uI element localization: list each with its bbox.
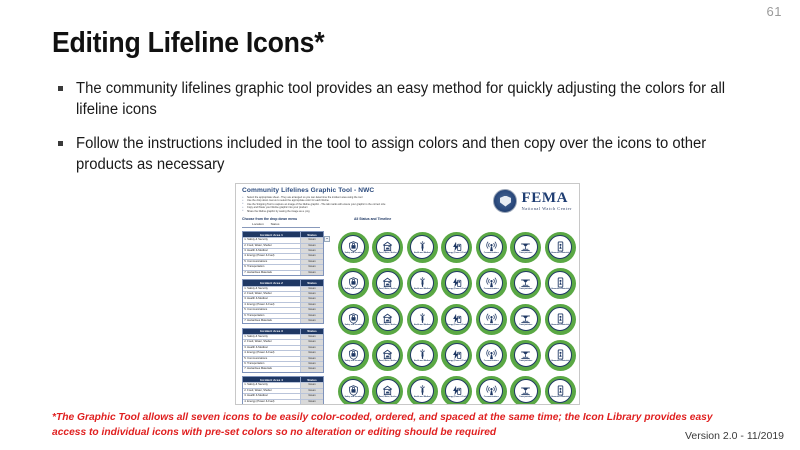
status-dropdown-cell[interactable]: Green [300, 303, 323, 307]
status-dropdown-cell[interactable]: Green [300, 297, 323, 301]
lifeline-icon-energy-power-fuel[interactable]: Energy (Power & Fuel) [441, 340, 472, 371]
bullet-text: Follow the instructions included in the … [76, 133, 738, 175]
page-number: 61 [767, 4, 782, 19]
lifeline-name-cell: 7. Hazardous Materials [243, 319, 300, 323]
lifeline-icon-transportation[interactable]: Transportation [510, 268, 541, 299]
lifeline-name-cell: 2. Food, Water, Shelter [243, 389, 300, 393]
lifeline-icon-inner: Energy (Power & Fuel) [445, 235, 469, 259]
food-water-shelter-icon [382, 241, 393, 252]
safety-and-security-icon [348, 277, 359, 288]
table-row: 1. Safety & SecurityGreen [243, 286, 323, 291]
lifeline-icon-inner: Transportation [514, 379, 538, 403]
status-dropdown-cell[interactable]: Green [300, 271, 323, 275]
lifeline-icon-food-water-shelter[interactable]: Food, Water, Shelter [372, 232, 403, 263]
health-and-medical-icon [417, 349, 428, 360]
table-row: 4. Energy (Power & Fuel)Green [243, 302, 323, 307]
list-item: Follow the instructions included in the … [58, 133, 758, 175]
lifeline-icon-inner: Communications [479, 271, 503, 295]
table-row: 4. Energy (Power & Fuel)Green [243, 253, 323, 258]
footnote-text: *The Graphic Tool allows all seven icons… [52, 411, 732, 440]
transportation-icon [520, 349, 531, 360]
lifeline-icon-communications[interactable]: Communications [476, 268, 507, 299]
table-header-incident-area: Incident Area 1 [243, 232, 300, 237]
health-and-medical-icon [417, 277, 428, 288]
lifeline-icon-inner: Food, Water, Shelter [376, 343, 400, 367]
lifeline-name-cell: 1. Safety & Security [243, 383, 300, 387]
lifeline-icon-inner: Health and Medical [410, 379, 434, 403]
lifeline-icon-label: Communications [481, 252, 501, 254]
safety-and-security-icon [348, 385, 359, 396]
lifeline-icon-label: Health and Medical [412, 252, 432, 254]
lifeline-icon-label: Hazardous Materials [550, 360, 570, 362]
table-row: 5. CommunicationsGreen [243, 356, 323, 361]
status-dropdown-cell[interactable]: Green [300, 383, 323, 387]
lifeline-name-cell: 1. Safety & Security [243, 238, 300, 242]
status-dropdown-cell[interactable]: Green [300, 260, 323, 264]
lifeline-icon-inner: Safety and Security [341, 235, 365, 259]
energy-power-fuel-icon [451, 313, 462, 324]
lifeline-icon-label: Communications [481, 288, 501, 290]
lifeline-icon-label: Safety and Security [343, 396, 363, 398]
communications-icon [486, 313, 497, 324]
table-row: 7. Hazardous MaterialsGreen [243, 366, 323, 371]
lifeline-icon-label: Communications [481, 396, 501, 398]
table-header-row: Incident Area 1Status [243, 232, 323, 237]
table-row: 7. Hazardous MaterialsGreen [243, 318, 323, 323]
tool-instructions-list: Select the appropriate sheet - They are … [242, 196, 472, 213]
lifeline-icon-transportation[interactable]: Transportation [510, 376, 541, 406]
food-water-shelter-icon [382, 313, 393, 324]
lifeline-icon-inner: Safety and Security [341, 343, 365, 367]
lifeline-icon-inner: Communications [479, 379, 503, 403]
safety-and-security-icon [348, 241, 359, 252]
communications-icon [486, 349, 497, 360]
dropdown-subcaption-right: Status [271, 222, 280, 226]
status-dropdown-cell[interactable]: Green [300, 362, 323, 366]
table-header-status: Status [300, 329, 323, 334]
safety-and-security-icon [348, 349, 359, 360]
lifeline-icon-inner: Safety and Security [341, 307, 365, 331]
lifeline-icon-label: Food, Water, Shelter [378, 288, 398, 290]
table-row: 2. Food, Water, ShelterGreen [243, 339, 323, 344]
lifeline-icon-hazardous-materials[interactable]: Hazardous Materials [545, 304, 576, 335]
status-dropdown-cell[interactable]: Green [300, 346, 323, 350]
table-header-row: Incident Area 3Status [243, 329, 323, 334]
lifeline-icon-label: Communications [481, 360, 501, 362]
status-dropdown-cell[interactable]: Green [300, 335, 323, 339]
lifeline-icon-transportation[interactable]: Transportation [510, 304, 541, 335]
lifeline-icon-energy-power-fuel[interactable]: Energy (Power & Fuel) [441, 232, 472, 263]
lifeline-icon-communications[interactable]: Communications [476, 376, 507, 406]
table-row: 5. CommunicationsGreen [243, 307, 323, 312]
status-dropdown-cell[interactable]: Green [300, 292, 323, 296]
table-row: 1. Safety & SecurityGreen [243, 382, 323, 387]
lifeline-icon-safety-and-security[interactable]: Safety and Security [338, 232, 369, 263]
energy-power-fuel-icon [451, 385, 462, 396]
lifeline-icon-label: Transportation [516, 360, 536, 362]
hazardous-materials-icon [555, 313, 566, 324]
table-header-status: Status [300, 280, 323, 285]
status-dropdown-cell[interactable]: Green [300, 308, 323, 312]
lifeline-icon-transportation[interactable]: Transportation [510, 340, 541, 371]
lifeline-name-cell: 7. Hazardous Materials [243, 271, 300, 275]
version-label: Version 2.0 - 11/2019 [685, 430, 784, 442]
lifeline-icon-label: Food, Water, Shelter [378, 252, 398, 254]
lifeline-icon-communications[interactable]: Communications [476, 304, 507, 335]
lifeline-icon-inner: Food, Water, Shelter [376, 379, 400, 403]
status-dropdown-cell[interactable]: Green [300, 244, 323, 248]
lifeline-icon-inner: Safety and Security [341, 379, 365, 403]
lifeline-name-cell: 3. Health & Medical [243, 249, 300, 253]
lifeline-name-cell: 5. Communications [243, 308, 300, 312]
lifeline-icon-inner: Food, Water, Shelter [376, 307, 400, 331]
table-header-row: Incident Area 4Status [243, 377, 323, 382]
status-dropdown-cell[interactable]: Green [300, 394, 323, 398]
fema-wordmark: FEMA National Watch Center [521, 191, 572, 211]
lifeline-icon-communications[interactable]: Communications [476, 340, 507, 371]
lifeline-icon-health-and-medical[interactable]: Health and Medical [407, 268, 438, 299]
lifeline-icon-label: Transportation [516, 252, 536, 254]
health-and-medical-icon [417, 385, 428, 396]
lifeline-name-cell: 5. Communications [243, 260, 300, 264]
lifeline-name-cell: 4. Energy (Power & Fuel) [243, 303, 300, 307]
lifeline-icon-inner: Hazardous Materials [548, 379, 572, 403]
divider [242, 227, 320, 228]
lifeline-icon-inner: Energy (Power & Fuel) [445, 307, 469, 331]
transportation-icon [520, 385, 531, 396]
lifeline-name-cell: 6. Transportation [243, 362, 300, 366]
lifeline-icon-safety-and-security[interactable]: Safety and Security [338, 340, 369, 371]
table-header-incident-area: Incident Area 3 [243, 329, 300, 334]
table-header-incident-area: Incident Area 4 [243, 377, 300, 382]
lifeline-icon-label: Safety and Security [343, 360, 363, 362]
chevron-down-icon[interactable] [324, 236, 330, 242]
food-water-shelter-icon [382, 277, 393, 288]
incident-area-table: Incident Area 3Status1. Safety & Securit… [242, 328, 324, 373]
grid-caption: All Status and Timeline [354, 217, 391, 221]
bullet-marker-icon [58, 86, 63, 91]
lifeline-icon-inner: Hazardous Materials [548, 343, 572, 367]
lifeline-icon-label: Safety and Security [343, 288, 363, 290]
hazardous-materials-icon [555, 385, 566, 396]
lifeline-name-cell: 7. Hazardous Materials [243, 367, 300, 371]
lifeline-icon-health-and-medical[interactable]: Health and Medical [407, 232, 438, 263]
lifeline-icon-label: Food, Water, Shelter [378, 396, 398, 398]
lifeline-icon-inner: Communications [479, 343, 503, 367]
status-dropdown-cell[interactable]: Green [300, 389, 323, 393]
bullet-list: The community lifelines graphic tool pro… [58, 78, 758, 188]
lifeline-icon-label: Transportation [516, 324, 536, 326]
dropdown-caption: Choose from the drop down menu [242, 217, 297, 221]
lifeline-icon-label: Hazardous Materials [550, 324, 570, 326]
embedded-tool-screenshot: Community Lifelines Graphic Tool - NWC S… [235, 183, 580, 405]
table-row: 3. Health & MedicalGreen [243, 345, 323, 350]
status-dropdown-cell[interactable]: Green [300, 314, 323, 318]
page-title: Editing Lifeline Icons* [52, 27, 324, 60]
status-dropdown-cell[interactable]: Green [300, 367, 323, 371]
incident-area-table: Incident Area 4Status1. Safety & Securit… [242, 376, 324, 405]
lifeline-icon-label: Energy (Power & Fuel) [447, 288, 467, 290]
lifeline-icon-inner: Communications [479, 235, 503, 259]
lifeline-icon-energy-power-fuel[interactable]: Energy (Power & Fuel) [441, 376, 472, 406]
lifeline-icon-hazardous-materials[interactable]: Hazardous Materials [545, 376, 576, 406]
table-row: 6. TransportationGreen [243, 264, 323, 269]
lifeline-icon-inner: Hazardous Materials [548, 235, 572, 259]
tool-title: Community Lifelines Graphic Tool - NWC [242, 187, 472, 194]
dropdown-subcaption-left: Location [252, 222, 264, 226]
incident-area-tables: Incident Area 1Status1. Safety & Securit… [242, 231, 324, 405]
table-row: 4. Energy (Power & Fuel)Green [243, 350, 323, 355]
lifeline-name-cell: 6. Transportation [243, 265, 300, 269]
table-row: 3. Health & MedicalGreen [243, 296, 323, 301]
lifeline-icon-health-and-medical[interactable]: Health and Medical [407, 340, 438, 371]
status-dropdown-cell[interactable]: Green [300, 400, 323, 404]
lifeline-icon-health-and-medical[interactable]: Health and Medical [407, 304, 438, 335]
transportation-icon [520, 313, 531, 324]
lifeline-icon-safety-and-security[interactable]: Safety and Security [338, 268, 369, 299]
lifeline-icon-label: Hazardous Materials [550, 252, 570, 254]
table-header-row: Incident Area 2Status [243, 280, 323, 285]
lifeline-icon-label: Energy (Power & Fuel) [447, 396, 467, 398]
lifeline-icon-label: Energy (Power & Fuel) [447, 252, 467, 254]
lifeline-name-cell: 1. Safety & Security [243, 287, 300, 291]
tool-instruction-item: Share the lifeline graphic by saving the… [242, 210, 472, 213]
lifeline-icon-food-water-shelter[interactable]: Food, Water, Shelter [372, 340, 403, 371]
lifeline-icon-food-water-shelter[interactable]: Food, Water, Shelter [372, 376, 403, 406]
lifeline-icon-label: Transportation [516, 288, 536, 290]
lifeline-name-cell: 4. Energy (Power & Fuel) [243, 254, 300, 258]
lifeline-icon-inner: Energy (Power & Fuel) [445, 379, 469, 403]
lifeline-icon-energy-power-fuel[interactable]: Energy (Power & Fuel) [441, 268, 472, 299]
lifeline-name-cell: 6. Transportation [243, 314, 300, 318]
lifeline-name-cell: 2. Food, Water, Shelter [243, 292, 300, 296]
status-dropdown-cell[interactable]: Green [300, 287, 323, 291]
table-header-incident-area: Incident Area 2 [243, 280, 300, 285]
lifeline-icon-hazardous-materials[interactable]: Hazardous Materials [545, 268, 576, 299]
lifeline-name-cell: 5. Communications [243, 357, 300, 361]
lifeline-icon-safety-and-security[interactable]: Safety and Security [338, 376, 369, 406]
communications-icon [486, 241, 497, 252]
health-and-medical-icon [417, 313, 428, 324]
lifeline-icon-label: Health and Medical [412, 288, 432, 290]
incident-area-table: Incident Area 1Status1. Safety & Securit… [242, 231, 324, 276]
lifeline-icon-food-water-shelter[interactable]: Food, Water, Shelter [372, 268, 403, 299]
lifeline-icon-inner: Transportation [514, 235, 538, 259]
status-dropdown-cell[interactable]: Green [300, 357, 323, 361]
table-row: 3. Health & MedicalGreen [243, 248, 323, 253]
bullet-marker-icon [58, 141, 63, 146]
slide-canvas: 61 Editing Lifeline Icons* The community… [0, 0, 800, 450]
lifeline-name-cell: 3. Health & Medical [243, 297, 300, 301]
list-item: The community lifelines graphic tool pro… [58, 78, 758, 120]
lifeline-icon-inner: Safety and Security [341, 271, 365, 295]
fema-name: FEMA [521, 191, 572, 206]
lifeline-icon-hazardous-materials[interactable]: Hazardous Materials [545, 340, 576, 371]
lifeline-icon-label: Hazardous Materials [550, 396, 570, 398]
lifeline-icon-inner: Health and Medical [410, 235, 434, 259]
lifeline-icon-communications[interactable]: Communications [476, 232, 507, 263]
food-water-shelter-icon [382, 349, 393, 360]
lifeline-icon-inner: Communications [479, 307, 503, 331]
incident-area-table: Incident Area 2Status1. Safety & Securit… [242, 279, 324, 324]
health-and-medical-icon [417, 241, 428, 252]
lifeline-icon-label: Health and Medical [412, 360, 432, 362]
status-dropdown-cell[interactable]: Green [300, 340, 323, 344]
table-row: 2. Food, Water, ShelterGreen [243, 243, 323, 248]
lifeline-icon-label: Health and Medical [412, 324, 432, 326]
lifeline-icon-inner: Food, Water, Shelter [376, 235, 400, 259]
lifeline-name-cell: 2. Food, Water, Shelter [243, 244, 300, 248]
lifeline-name-cell: 2. Food, Water, Shelter [243, 340, 300, 344]
transportation-icon [520, 277, 531, 288]
lifeline-icon-label: Energy (Power & Fuel) [447, 360, 467, 362]
table-row: 6. TransportationGreen [243, 313, 323, 318]
lifeline-name-cell: 4. Energy (Power & Fuel) [243, 400, 300, 404]
table-row: 5. CommunicationsGreen [243, 259, 323, 264]
lifeline-icon-inner: Transportation [514, 271, 538, 295]
lifeline-icon-inner: Transportation [514, 343, 538, 367]
dropdown-subcaption: Location Status [252, 222, 279, 226]
transportation-icon [520, 241, 531, 252]
table-row: 4. Energy (Power & Fuel)Green [243, 399, 323, 404]
safety-and-security-icon [348, 313, 359, 324]
lifeline-icon-inner: Hazardous Materials [548, 271, 572, 295]
table-row: 6. TransportationGreen [243, 361, 323, 366]
lifeline-icon-food-water-shelter[interactable]: Food, Water, Shelter [372, 304, 403, 335]
lifeline-icon-inner: Energy (Power & Fuel) [445, 271, 469, 295]
lifeline-name-cell: 3. Health & Medical [243, 394, 300, 398]
status-dropdown-cell[interactable]: Green [300, 265, 323, 269]
communications-icon [486, 277, 497, 288]
lifeline-icon-safety-and-security[interactable]: Safety and Security [338, 304, 369, 335]
lifeline-icon-grid: Safety and SecurityFood, Water, ShelterH… [336, 229, 578, 405]
table-header-status: Status [300, 232, 323, 237]
energy-power-fuel-icon [451, 277, 462, 288]
lifeline-icon-inner: Health and Medical [410, 307, 434, 331]
lifeline-icon-inner: Transportation [514, 307, 538, 331]
lifeline-icon-label: Communications [481, 324, 501, 326]
lifeline-icon-inner: Energy (Power & Fuel) [445, 343, 469, 367]
status-dropdown-cell[interactable]: Green [300, 238, 323, 242]
lifeline-icon-label: Transportation [516, 396, 536, 398]
lifeline-icon-label: Food, Water, Shelter [378, 360, 398, 362]
status-dropdown-cell[interactable]: Green [300, 254, 323, 258]
table-row: 7. Hazardous MaterialsGreen [243, 270, 323, 275]
table-row: 1. Safety & SecurityGreen [243, 334, 323, 339]
dhs-seal-icon [493, 189, 517, 213]
communications-icon [486, 385, 497, 396]
lifeline-icon-transportation[interactable]: Transportation [510, 232, 541, 263]
lifeline-icon-hazardous-materials[interactable]: Hazardous Materials [545, 232, 576, 263]
lifeline-icon-inner: Food, Water, Shelter [376, 271, 400, 295]
lifeline-name-cell: 3. Health & Medical [243, 346, 300, 350]
table-header-status: Status [300, 377, 323, 382]
table-row: 3. Health & MedicalGreen [243, 393, 323, 398]
hazardous-materials-icon [555, 349, 566, 360]
status-dropdown-cell[interactable]: Green [300, 351, 323, 355]
lifeline-icon-label: Energy (Power & Fuel) [447, 324, 467, 326]
lifeline-icon-inner: Health and Medical [410, 343, 434, 367]
lifeline-icon-label: Food, Water, Shelter [378, 324, 398, 326]
energy-power-fuel-icon [451, 349, 462, 360]
fema-logo: FEMA National Watch Center [493, 189, 572, 213]
lifeline-name-cell: 1. Safety & Security [243, 335, 300, 339]
status-dropdown-cell[interactable]: Green [300, 319, 323, 323]
lifeline-icon-label: Health and Medical [412, 396, 432, 398]
lifeline-icon-health-and-medical[interactable]: Health and Medical [407, 376, 438, 406]
food-water-shelter-icon [382, 385, 393, 396]
lifeline-name-cell: 4. Energy (Power & Fuel) [243, 351, 300, 355]
fema-subtitle: National Watch Center [521, 207, 572, 211]
table-row: 2. Food, Water, ShelterGreen [243, 291, 323, 296]
energy-power-fuel-icon [451, 241, 462, 252]
lifeline-icon-label: Safety and Security [343, 324, 363, 326]
hazardous-materials-icon [555, 241, 566, 252]
table-row: 2. Food, Water, ShelterGreen [243, 388, 323, 393]
lifeline-icon-inner: Hazardous Materials [548, 307, 572, 331]
lifeline-icon-label: Safety and Security [343, 252, 363, 254]
bullet-text: The community lifelines graphic tool pro… [76, 78, 738, 120]
lifeline-icon-energy-power-fuel[interactable]: Energy (Power & Fuel) [441, 304, 472, 335]
hazardous-materials-icon [555, 277, 566, 288]
status-dropdown-cell[interactable]: Green [300, 249, 323, 253]
lifeline-icon-label: Hazardous Materials [550, 288, 570, 290]
lifeline-icon-inner: Health and Medical [410, 271, 434, 295]
table-row: 5. CommunicationsGreen [243, 404, 323, 405]
table-row: 1. Safety & SecurityGreen [243, 237, 323, 242]
